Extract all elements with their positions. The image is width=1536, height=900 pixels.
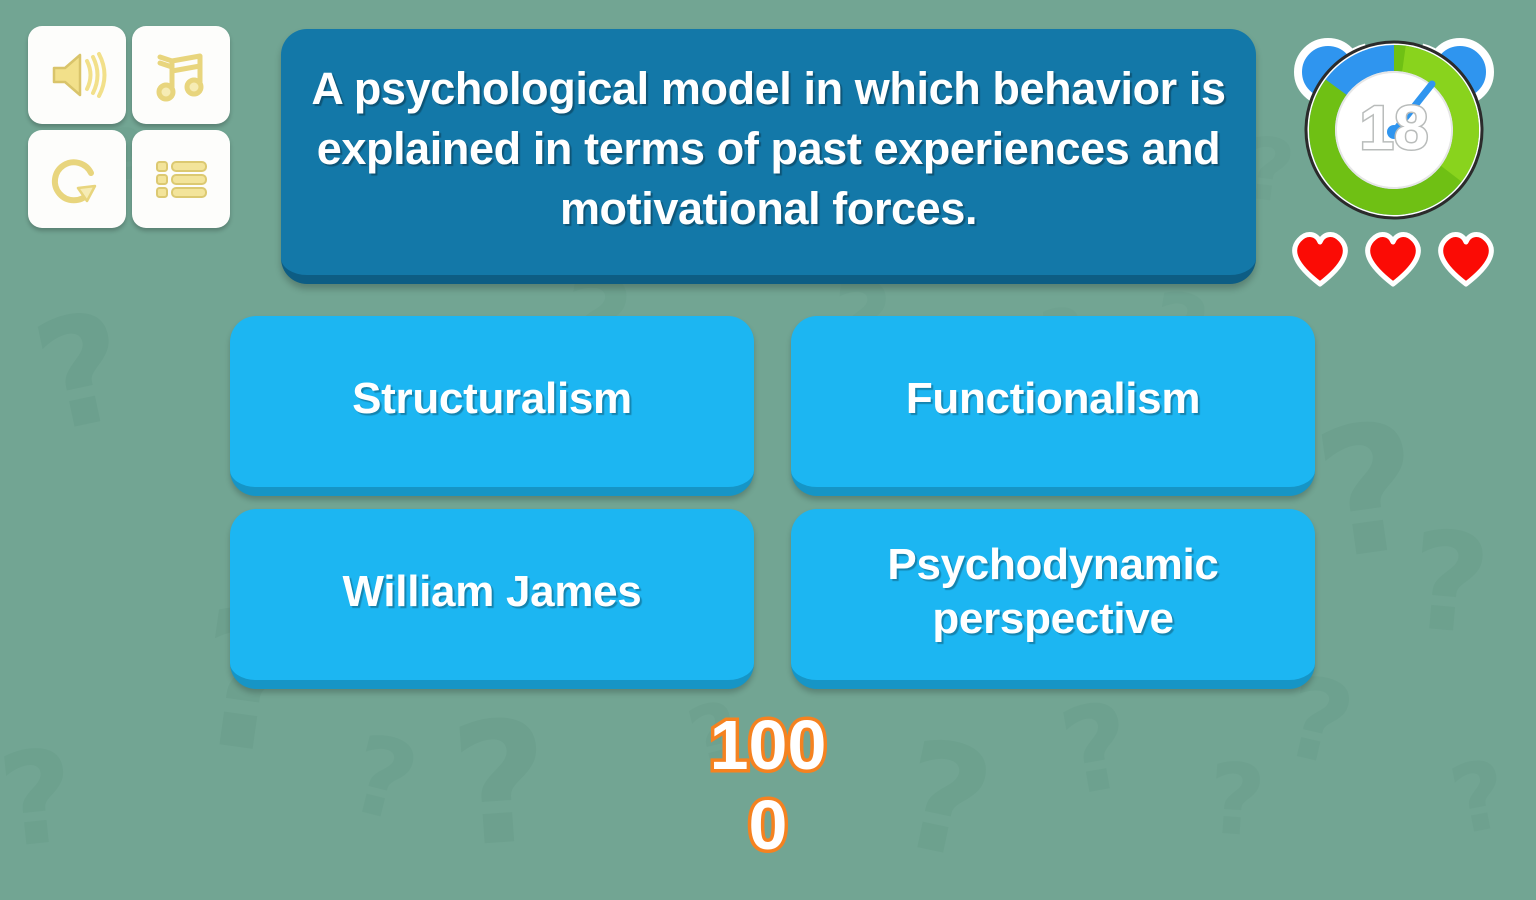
list-icon [150,148,212,210]
score-area: 100 0 [0,706,1536,866]
background-question-mark: ? [23,291,139,456]
answer-label: Structuralism [352,372,632,426]
heart-icon [1361,228,1425,288]
quiz-game-screen: ???????????????????? [0,0,1536,900]
background-question-mark: ? [1306,398,1432,586]
sound-icon [46,44,108,106]
lives-indicator [1288,228,1506,288]
question-text: A psychological model in which behavior … [307,59,1230,239]
list-button[interactable] [132,130,230,228]
answer-button-4[interactable]: Psychodynamic perspective [791,509,1315,689]
restart-button[interactable] [28,130,126,228]
heart-icon [1288,228,1352,288]
background-question-mark: ? [1404,513,1494,655]
sound-toggle-button[interactable] [28,26,126,124]
score-secondary: 0 [749,786,788,866]
restart-icon [46,148,108,210]
heart-icon [1434,228,1498,288]
answer-grid: Structuralism Functionalism William Jame… [230,316,1315,689]
answer-button-1[interactable]: Structuralism [230,316,754,496]
music-icon [150,44,212,106]
question-banner: A psychological model in which behavior … [281,29,1256,284]
answer-label: Functionalism [906,372,1200,426]
timer: 18 [1288,22,1500,234]
answer-label: William James [343,565,642,619]
answer-button-2[interactable]: Functionalism [791,316,1315,496]
toolbar [28,26,230,228]
answer-label: Psychodynamic perspective [813,538,1293,645]
answer-button-3[interactable]: William James [230,509,754,689]
score-primary: 100 [710,706,827,786]
music-toggle-button[interactable] [132,26,230,124]
